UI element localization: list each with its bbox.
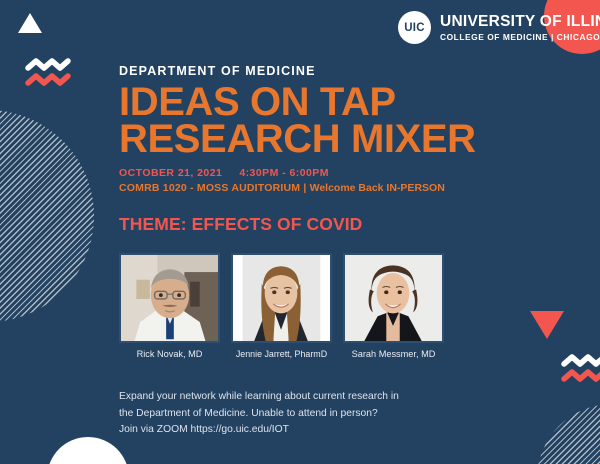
uic-college-name: COLLEGE OF MEDICINE | CHICAGO xyxy=(440,33,600,41)
event-location: COMRB 1020 - MOSS AUDITORIUM | Welcome B… xyxy=(119,182,445,194)
speaker-card: Rick Novak, MD xyxy=(119,253,220,359)
triangle-up-icon xyxy=(18,13,42,33)
speaker-card: Sarah Messmer, MD xyxy=(343,253,444,359)
poster-title-line1: IDEAS ON TAP xyxy=(119,82,396,122)
speaker-photo-jennie-jarrett xyxy=(231,253,332,343)
speaker-name: Jennie Jarrett, PharmD xyxy=(231,349,332,359)
speaker-photo-rick-novak xyxy=(119,253,220,343)
uic-roundel-label: UIC xyxy=(404,22,424,34)
event-description-line1: Expand your network while learning about… xyxy=(119,389,399,406)
uic-roundel-icon: UIC xyxy=(398,11,431,44)
striped-circle-right-icon xyxy=(537,404,600,464)
zigzag-right-icon xyxy=(560,352,600,386)
event-description-line3: Join via ZOOM https://go.uic.edu/IOT xyxy=(119,422,399,439)
zigzag-left-icon xyxy=(24,56,72,90)
event-datetime: OCTOBER 21, 20214:30PM - 6:00PM xyxy=(119,167,329,179)
speaker-list: Rick Novak, MD xyxy=(119,253,444,359)
speaker-name: Rick Novak, MD xyxy=(119,349,220,359)
event-poster: UIC UNIVERSITY OF ILLINOIS COLLEGE OF ME… xyxy=(0,0,600,464)
triangle-down-icon xyxy=(530,311,564,339)
poster-title-line2: RESEARCH MIXER xyxy=(119,119,476,159)
event-theme: THEME: EFFECTS OF COVID xyxy=(119,214,362,235)
speaker-card: Jennie Jarrett, PharmD xyxy=(231,253,332,359)
uic-logo: UIC UNIVERSITY OF ILLINOIS COLLEGE OF ME… xyxy=(398,11,600,44)
event-venue: COMRB 1020 - MOSS AUDITORIUM | xyxy=(119,182,306,194)
event-date: OCTOBER 21, 2021 xyxy=(119,167,222,179)
department-label: DEPARTMENT OF MEDICINE xyxy=(119,64,316,78)
circle-white-bottom-left-icon xyxy=(47,437,129,464)
striped-circle-left-icon xyxy=(0,110,94,322)
event-time: 4:30PM - 6:00PM xyxy=(239,167,329,179)
event-description: Expand your network while learning about… xyxy=(119,389,399,439)
speaker-name: Sarah Messmer, MD xyxy=(343,349,444,359)
event-description-line2: the Department of Medicine. Unable to at… xyxy=(119,406,399,423)
uic-logo-text: UNIVERSITY OF ILLINOIS COLLEGE OF MEDICI… xyxy=(440,14,600,41)
uic-university-name: UNIVERSITY OF ILLINOIS xyxy=(440,14,600,30)
event-welcome-note: Welcome Back IN-PERSON xyxy=(310,182,445,194)
speaker-photo-sarah-messmer xyxy=(343,253,444,343)
